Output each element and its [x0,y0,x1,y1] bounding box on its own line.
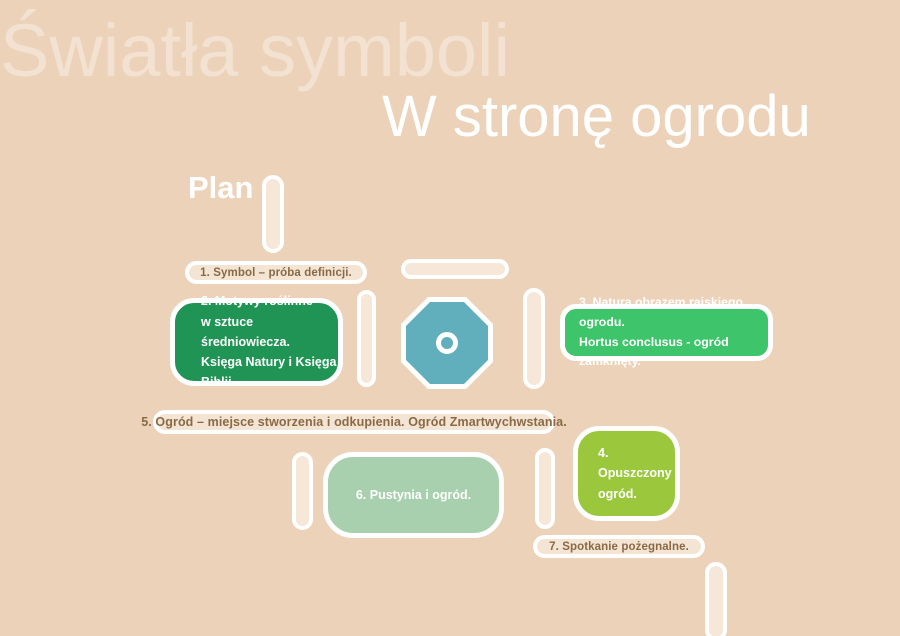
capsule-vertical-3 [523,288,545,389]
capsule-vertical-2 [357,290,376,387]
plan-item-2-line-1: 2. Motywy roślinne [201,291,338,311]
plan-item-4-line-1: 4. Opuszczony [598,443,675,484]
capsule-horizontal-1 [401,259,509,279]
capsule-vertical-4 [292,452,313,530]
plan-item-6[interactable]: 6. Pustynia i ogród. [323,452,504,538]
plan-item-2[interactable]: 2. Motywy roślinne w sztuce średniowiecz… [170,298,343,386]
plan-heading: Plan [188,172,253,203]
capsule-vertical-5 [535,448,555,529]
poster-title-sub: W stronę ogrodu [382,88,811,146]
plan-item-2-line-2: w sztuce średniowiecza. [201,312,338,353]
plan-item-1-label: 1. Symbol – próba definicji. [200,267,352,279]
plan-item-3-line-1: 3. Natura obrazem rajskiego ogrodu. [579,293,768,332]
plan-item-5-label: 5. Ogród – miejsce stworzenia i odkupien… [141,415,567,429]
plan-item-4-line-2: ogród. [598,484,675,504]
plan-item-3-line-2: Hortus conclusus - ogród zamknięty. [579,333,768,372]
plan-item-3[interactable]: 3. Natura obrazem rajskiego ogrodu. Hort… [560,304,773,361]
capsule-vertical-6 [705,562,727,636]
poster-title-main: Światła symboli [0,14,510,88]
plan-item-7[interactable]: 7. Spotkanie pożegnalne. [533,535,705,558]
octagon-shape [401,297,493,389]
capsule-vertical-1 [262,175,284,253]
plan-item-4[interactable]: 4. Opuszczony ogród. [573,426,680,521]
plan-item-5[interactable]: 5. Ogród – miejsce stworzenia i odkupien… [153,410,555,434]
plan-item-2-line-3: Księga Natury i Księga [201,352,338,372]
poster-canvas: Światła symboli W stronę ogrodu Plan 1. … [0,0,900,636]
plan-item-1[interactable]: 1. Symbol – próba definicji. [185,261,367,284]
plan-item-7-label: 7. Spotkanie pożegnalne. [549,541,689,553]
plan-item-6-line-1: 6. Pustynia i ogród. [356,486,471,505]
octagon-ring-icon [436,332,458,354]
plan-item-2-line-4: Biblii. [201,372,338,392]
